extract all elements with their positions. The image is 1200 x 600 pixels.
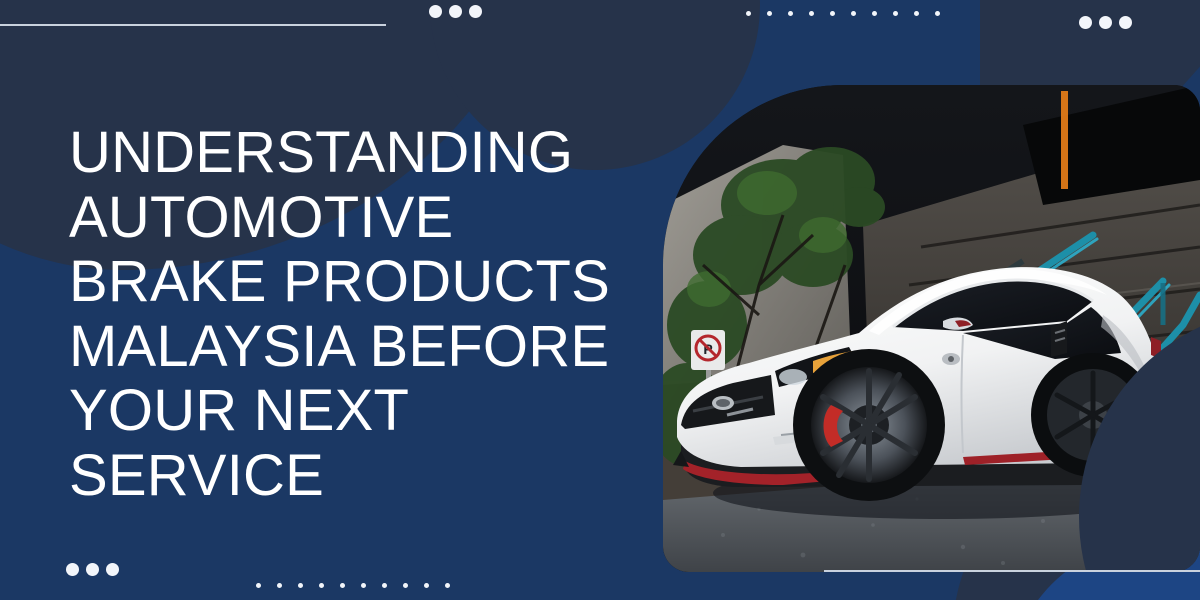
front-wheel (793, 349, 945, 501)
dots-top-right (1079, 16, 1132, 29)
dot (767, 11, 772, 16)
dot (914, 11, 919, 16)
dot (424, 583, 429, 588)
dot (872, 11, 877, 16)
dot (361, 583, 366, 588)
hero-photo: P (663, 85, 1200, 572)
dots-top-left (429, 5, 482, 18)
hero-photo-illustration: P (663, 85, 1200, 572)
dot (340, 583, 345, 588)
dot (66, 563, 79, 576)
dot (830, 11, 835, 16)
dot (298, 583, 303, 588)
dot (449, 5, 462, 18)
dot (788, 11, 793, 16)
dot (382, 583, 387, 588)
dot (1119, 16, 1132, 29)
rule-bottom-right (824, 570, 1200, 572)
banner-canvas: UNDERSTANDING AUTOMOTIVE BRAKE PRODUCTS … (0, 0, 1200, 600)
dot (809, 11, 814, 16)
dot (403, 583, 408, 588)
dot (86, 563, 99, 576)
dots-bottom-middle (256, 583, 450, 588)
dot (106, 563, 119, 576)
dot (256, 583, 261, 588)
dot (319, 583, 324, 588)
page-title: UNDERSTANDING AUTOMOTIVE BRAKE PRODUCTS … (69, 121, 629, 509)
dot (851, 11, 856, 16)
dot (445, 583, 450, 588)
dot (429, 5, 442, 18)
rule-top-left (0, 24, 386, 26)
dots-top-middle (746, 11, 940, 16)
dot (746, 11, 751, 16)
dot (1079, 16, 1092, 29)
dots-bottom-left (66, 563, 119, 576)
dot (1099, 16, 1112, 29)
dot (277, 583, 282, 588)
dot (935, 11, 940, 16)
dot (893, 11, 898, 16)
dot (469, 5, 482, 18)
